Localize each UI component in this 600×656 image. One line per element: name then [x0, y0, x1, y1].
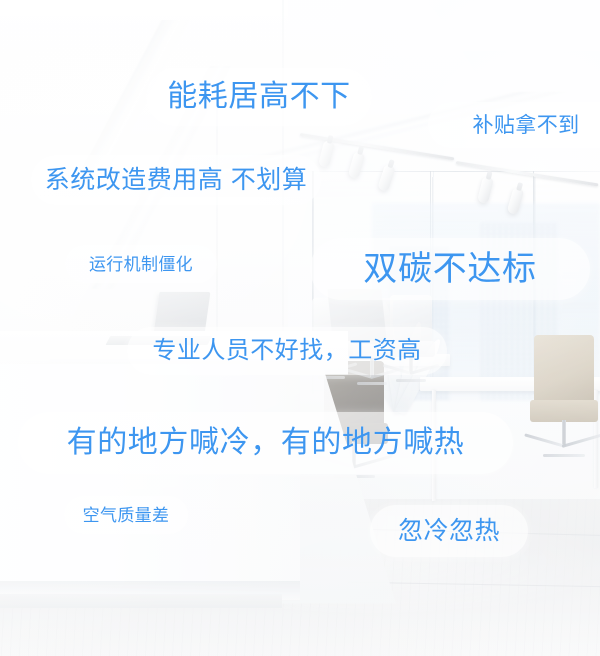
pain-point-pill-uneven-temperature[interactable]: 有的地方喊冷，有的地方喊热 — [18, 412, 513, 474]
pain-point-pill-staffing-cost[interactable]: 专业人员不好找，工资高 — [127, 327, 447, 375]
pain-point-pill-dual-carbon[interactable]: 双碳不达标 — [310, 238, 590, 300]
pill-label: 系统改造费用高 不划算 — [45, 168, 307, 193]
pain-point-pill-energy-consumption[interactable]: 能耗居高不下 — [146, 68, 372, 126]
pill-label: 补贴拿不到 — [472, 115, 579, 136]
pill-label: 空气质量差 — [83, 507, 170, 524]
pill-label: 有的地方喊冷，有的地方喊热 — [67, 428, 465, 458]
pain-point-pill-air-quality[interactable]: 空气质量差 — [64, 496, 188, 534]
pain-point-pill-subsidy-unavailable[interactable]: 补贴拿不到 — [428, 102, 600, 148]
banner-canvas: 能耗居高不下 补贴拿不到 系统改造费用高 不划算 运行机制僵化 双碳不达标 专业… — [0, 0, 600, 656]
pill-label: 忽冷忽热 — [398, 519, 500, 544]
pain-point-pill-rigid-operation[interactable]: 运行机制僵化 — [65, 245, 217, 283]
pill-label: 能耗居高不下 — [167, 82, 351, 112]
pain-point-pill-hot-cold-swings[interactable]: 忽冷忽热 — [370, 505, 528, 557]
pain-point-pill-retrofit-cost[interactable]: 系统改造费用高 不划算 — [31, 155, 321, 205]
pill-label: 双碳不达标 — [363, 252, 536, 286]
pill-label: 专业人员不好找，工资高 — [152, 339, 421, 363]
pill-label: 运行机制僵化 — [89, 256, 193, 273]
